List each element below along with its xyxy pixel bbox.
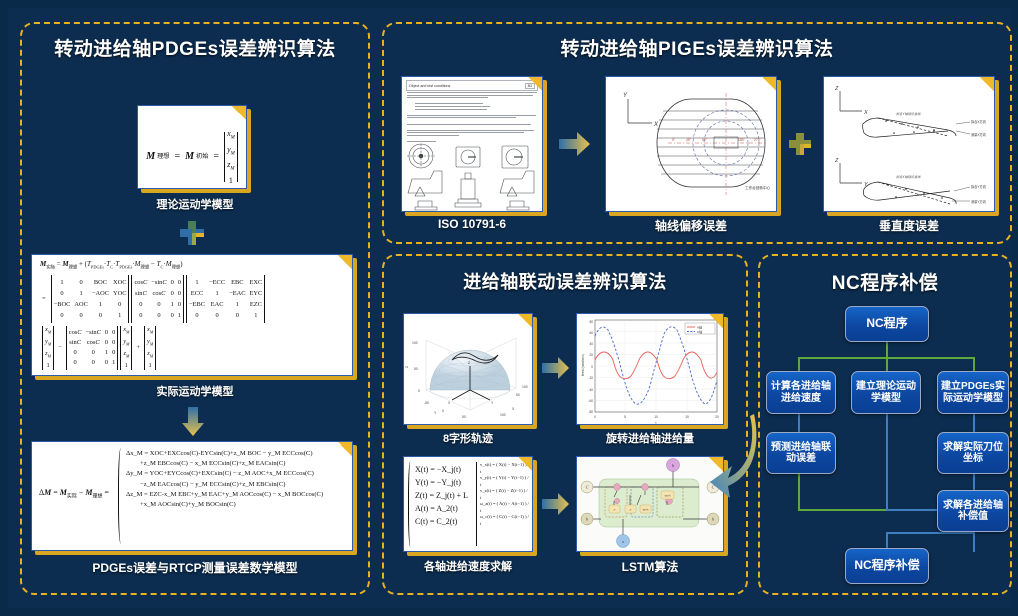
divider (476, 462, 477, 546)
svg-text:Z: Z (834, 86, 839, 92)
iso-doc-heading: Object and test conditions (409, 84, 450, 88)
arrow-right-icon (542, 356, 570, 380)
svg-text:45°: 45° (686, 138, 692, 142)
formula-velocity: v_x(t) = ( X(t) − X(t−1) ) / t v_y(t) = … (480, 462, 530, 527)
caption-rotary-feed-chart: 旋转进给轴进给量 (576, 430, 724, 446)
svg-text:100: 100 (412, 341, 418, 345)
svg-text:X: X (653, 122, 659, 128)
plus-icon (179, 220, 205, 246)
formula-delta-m-lines: Δx_M = XOC+EXCcos(C)-EYCsin(C)+z_M BOC −… (126, 449, 348, 510)
svg-text:工作台回转中心: 工作台回转中心 (745, 185, 771, 190)
svg-text:σ: σ (614, 508, 616, 512)
nc-node-build-theory[interactable]: 建立理论运动学模型 (851, 371, 921, 414)
nc-connector (886, 342, 888, 358)
caption-iso-document: ISO 10791-6 (384, 217, 560, 231)
card-iso-document: Object and test conditions B3 (401, 76, 543, 212)
nc-node-predict-error[interactable]: 预测进给轴联动误差 (766, 432, 836, 474)
nc-node-solve-tool-pos[interactable]: 求解实际刀位坐标 (937, 432, 1009, 474)
card-actual-model: M实际 = M理想 + (TPDGEs·TC·TPDGEs·M理想 − TC·M… (31, 254, 353, 376)
formula-theoretical-model: M理想 = M初始 = xM yM zM 1 (138, 132, 246, 182)
svg-text:60: 60 (589, 331, 593, 335)
svg-text:-40: -40 (588, 388, 593, 392)
svg-text:X: X (863, 110, 868, 116)
svg-text:0°: 0° (672, 138, 676, 142)
svg-text:5: 5 (624, 415, 626, 419)
figure8-plot: ZXY 100500 Z -50050 Y100X 50100 (404, 314, 533, 425)
lstm-cell-in-label: C (586, 485, 589, 490)
panel-pdges-title: 转动进给轴PDGEs误差辨识算法 (22, 34, 368, 61)
panel-linkage-title: 进给轴联动误差辨识算法 (384, 268, 746, 294)
lstm-output-label: h (672, 463, 674, 468)
formula-kinematics: X(t) = −X_j(t) Y(t) = −Y_j(t) Z(t) = Z_j… (415, 464, 475, 529)
svg-text:Z: Z (468, 361, 470, 365)
nc-connector (973, 414, 975, 432)
nc-connector (973, 532, 975, 552)
nc-node-build-pdges[interactable]: 建立PDGEs实际运动学模型 (937, 371, 1009, 414)
nc-connector (798, 414, 800, 432)
svg-text:100: 100 (522, 385, 528, 389)
panel-nc: NC程序补偿 NC程序 计算各进给轴进给速度 建立理论运动学模型 建立PDGEs… (758, 254, 1012, 595)
card-axis-offset-error: Y X 0°45°90° 1 (605, 76, 777, 212)
card-perpendicularity-error: Z X 拟合Y轴理论直线 拟合X方向 测量X方向 (823, 76, 995, 212)
nc-connector (886, 357, 888, 371)
card-rotary-feed-chart: 806040 200-20 -40-60-80 0510 1520 feed (… (576, 313, 724, 425)
nc-node-nc-compensation[interactable]: NC程序补偿 (845, 548, 929, 584)
panel-piges-title: 转动进给轴PIGEs误差辨识算法 (384, 34, 1010, 61)
panel-pdges: 转动进给轴PDGEs误差辨识算法 M理想 = M初始 = xM yM zM 1 (20, 22, 370, 595)
nc-node-nc-program[interactable]: NC程序 (845, 306, 929, 342)
brace-icon (118, 448, 125, 544)
svg-text:80: 80 (589, 320, 593, 324)
svg-text:-80: -80 (588, 410, 593, 414)
svg-text:拟合Y方向: 拟合Y方向 (971, 184, 986, 189)
svg-text:Y: Y (623, 93, 628, 99)
svg-text:10: 10 (654, 415, 658, 419)
svg-text:拟合X轴理论直线: 拟合X轴理论直线 (896, 175, 921, 179)
formula-actual-model-matrices: = 10BOCXOC 01−AOCYOC −BOCAOC10 0001 cosC… (42, 275, 346, 370)
iso-machine-sketches (402, 141, 543, 211)
svg-text:Z: Z (834, 158, 839, 164)
caption-theoretical-model: 理论运动学模型 (22, 196, 368, 212)
caption-lstm-algorithm: LSTM算法 (576, 558, 724, 575)
panel-piges: 转动进给轴PIGEs误差辨识算法 Object and test conditi… (382, 22, 1012, 244)
panel-linkage: 进给轴联动误差辨识算法 (382, 254, 748, 595)
brace-icon (408, 461, 414, 547)
svg-text:tanh: tanh (665, 494, 671, 498)
lstm-hidden-out-label: h (712, 517, 714, 522)
svg-text:feed (mm/min): feed (mm/min) (581, 354, 585, 376)
nc-connector (798, 474, 800, 510)
svg-text:0: 0 (418, 389, 420, 393)
iso-doc-text-lines (407, 92, 537, 144)
arrow-right-icon (559, 131, 591, 157)
rotary-feed-plot: 806040 200-20 -40-60-80 0510 1520 feed (… (577, 314, 724, 425)
panel-nc-title: NC程序补偿 (760, 268, 1010, 295)
svg-text:40: 40 (589, 342, 593, 346)
nc-node-calc-feed-speed[interactable]: 计算各进给轴进给速度 (766, 371, 836, 414)
svg-text:测量Y方向: 测量Y方向 (971, 199, 986, 204)
card-pdges-rtcp-model: ΔM = M实际 − M理想 = Δx_M = XOC+EXCcos(C)-EY… (31, 441, 353, 551)
svg-text:50: 50 (414, 367, 418, 371)
caption-actual-model: 实际运动学模型 (22, 383, 368, 399)
caption-pdges-rtcp-model: PDGEs误差与RTCP测量误差数学模型 (22, 559, 368, 576)
axis-offset-diagram: Y X 0°45°90° 1 (606, 77, 777, 212)
arrow-curved-icon (706, 412, 760, 508)
formula-actual-model-head: M实际 = M理想 + (TPDGEs·TC·TPDGEs·M理想 − TC·M… (40, 260, 183, 270)
svg-text:C轴: C轴 (697, 329, 702, 334)
svg-text:t: t (656, 421, 657, 425)
svg-text:X: X (512, 407, 515, 411)
caption-figure8-trajectory: 8字形轨迹 (403, 430, 533, 446)
caption-axis-offset-error: 轴线偏移误差 (605, 217, 777, 234)
svg-text:0: 0 (594, 415, 596, 419)
card-theoretical-model: M理想 = M初始 = xM yM zM 1 (137, 105, 247, 189)
svg-text:15: 15 (685, 415, 689, 419)
svg-text:拟合X方向: 拟合X方向 (971, 119, 986, 124)
svg-text:50: 50 (462, 415, 466, 419)
iso-doc-badge: B3 (525, 83, 535, 89)
nc-node-solve-comp[interactable]: 求解各进给轴补偿值 (937, 490, 1009, 532)
nc-connector (973, 357, 975, 371)
svg-text:-20: -20 (588, 376, 593, 380)
perpendicularity-diagram: Z X 拟合Y轴理论直线 拟合X方向 测量X方向 (824, 77, 995, 212)
svg-text:270°: 270° (754, 138, 762, 142)
svg-text:90°: 90° (702, 138, 708, 142)
svg-text:Y: Y (491, 401, 494, 405)
lstm-hidden-in-label: h (586, 517, 588, 522)
svg-text:100: 100 (500, 413, 506, 417)
formula-delta-m-head: ΔM = M实际 − M理想 = (39, 488, 109, 501)
nc-connector (886, 532, 975, 534)
arrow-right-icon (542, 492, 570, 516)
svg-text:20: 20 (589, 353, 593, 357)
nc-connector (798, 357, 800, 371)
svg-text:50: 50 (516, 393, 520, 397)
svg-text:Z: Z (405, 366, 409, 368)
poster-root: 转动进给轴PDGEs误差辨识算法 M理想 = M初始 = xM yM zM 1 (0, 0, 1018, 616)
svg-text:180°: 180° (738, 138, 746, 142)
lstm-cell-diagram: σσ tanhtanh (577, 457, 724, 552)
svg-text:σ: σ (630, 508, 632, 512)
svg-text:-50: -50 (424, 401, 429, 405)
svg-text:测量X方向: 测量X方向 (971, 132, 986, 137)
svg-text:0: 0 (442, 409, 444, 413)
card-axis-velocity-solution: X(t) = −X_j(t) Y(t) = −Y_j(t) Z(t) = Z_j… (403, 456, 533, 552)
nc-connector (886, 414, 888, 510)
card-lstm-algorithm: σσ tanhtanh (576, 456, 724, 552)
svg-text:-60: -60 (588, 399, 593, 403)
arrow-down-icon (181, 407, 205, 437)
plus-icon (788, 132, 812, 156)
caption-axis-velocity-solution: 各轴进给速度求解 (403, 558, 533, 574)
svg-text:X: X (448, 401, 451, 405)
nc-connector (973, 474, 975, 490)
svg-text:Y: Y (434, 411, 437, 415)
card-figure8-trajectory: ZXY 100500 Z -50050 Y100X 50100 (403, 313, 533, 425)
svg-text:拟合Y轴理论直线: 拟合Y轴理论直线 (896, 112, 921, 116)
nc-connector (886, 532, 888, 548)
caption-perpendicularity-error: 垂直度误差 (823, 217, 995, 234)
svg-text:0: 0 (591, 365, 593, 369)
lstm-input-label: x (621, 539, 624, 544)
svg-text:A轴: A轴 (697, 325, 702, 330)
svg-text:tanh: tanh (643, 508, 649, 512)
